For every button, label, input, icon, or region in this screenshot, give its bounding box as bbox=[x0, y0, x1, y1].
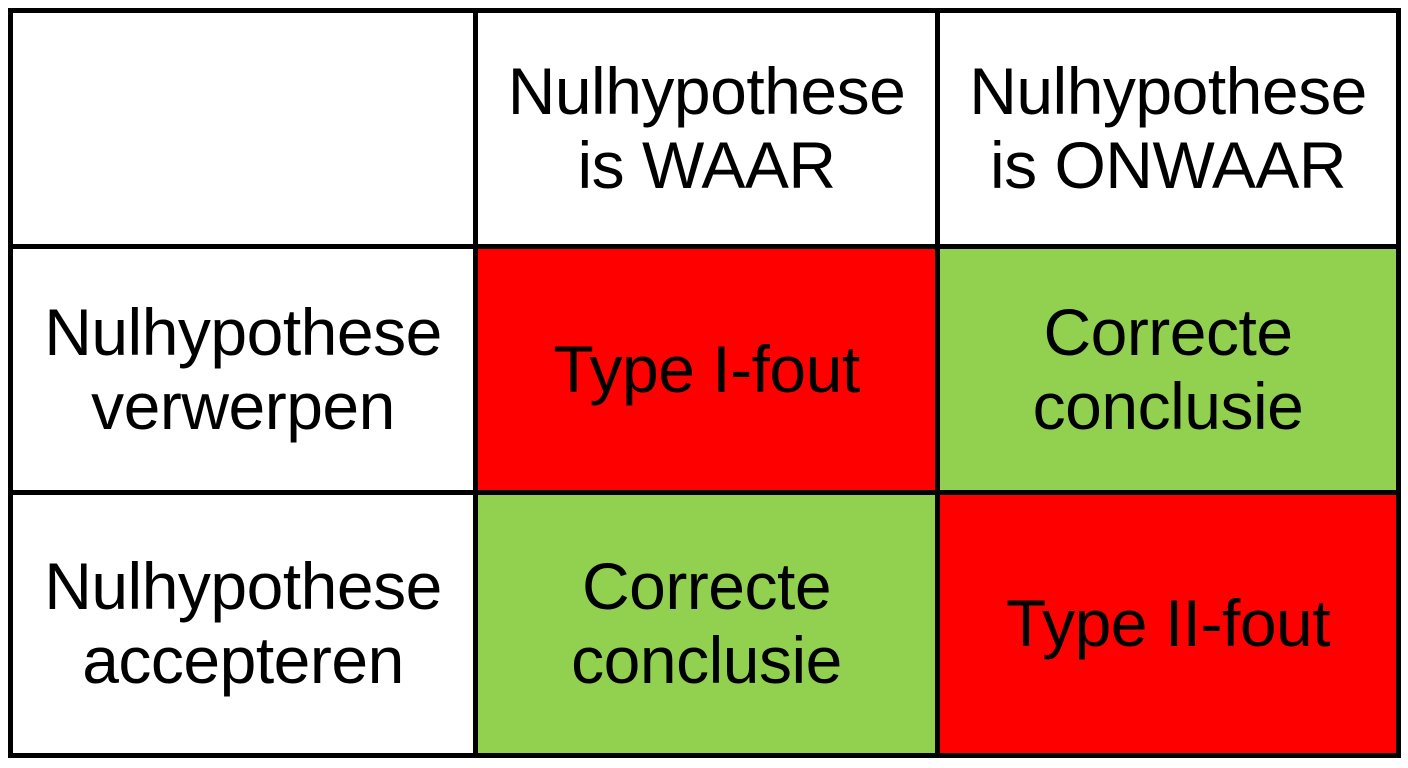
table-row-accept: Nulhypothese accepteren Correcte conclus… bbox=[11, 493, 1399, 756]
cell-correct-conclusion-reject-label: Correcte conclusie bbox=[950, 296, 1386, 444]
row-header-reject-label: Nulhypothese verwerpen bbox=[23, 296, 463, 444]
corner-blank-cell bbox=[11, 11, 476, 247]
cell-correct-conclusion-accept: Correcte conclusie bbox=[476, 493, 938, 756]
row-header-accept: Nulhypothese accepteren bbox=[11, 493, 476, 756]
cell-type-two-error: Type II-fout bbox=[938, 493, 1399, 756]
column-header-null-true: Nulhypothese is WAAR bbox=[476, 11, 938, 247]
table-row-header: Nulhypothese is WAAR Nulhypothese is ONW… bbox=[11, 11, 1399, 247]
cell-type-one-error-label: Type I-fout bbox=[488, 333, 925, 407]
cell-correct-conclusion-accept-label: Correcte conclusie bbox=[488, 550, 925, 698]
row-header-accept-label: Nulhypothese accepteren bbox=[23, 550, 463, 698]
row-header-reject: Nulhypothese verwerpen bbox=[11, 247, 476, 493]
hypothesis-decision-matrix: Nulhypothese is WAAR Nulhypothese is ONW… bbox=[8, 8, 1401, 758]
decision-matrix-frame: Nulhypothese is WAAR Nulhypothese is ONW… bbox=[8, 8, 1396, 753]
column-header-null-false-label: Nulhypothese is ONWAAR bbox=[950, 55, 1386, 203]
table-row-reject: Nulhypothese verwerpen Type I-fout Corre… bbox=[11, 247, 1399, 493]
column-header-null-false: Nulhypothese is ONWAAR bbox=[938, 11, 1399, 247]
cell-type-two-error-label: Type II-fout bbox=[950, 587, 1386, 661]
cell-correct-conclusion-reject: Correcte conclusie bbox=[938, 247, 1399, 493]
column-header-null-true-label: Nulhypothese is WAAR bbox=[488, 55, 925, 203]
cell-type-one-error: Type I-fout bbox=[476, 247, 938, 493]
